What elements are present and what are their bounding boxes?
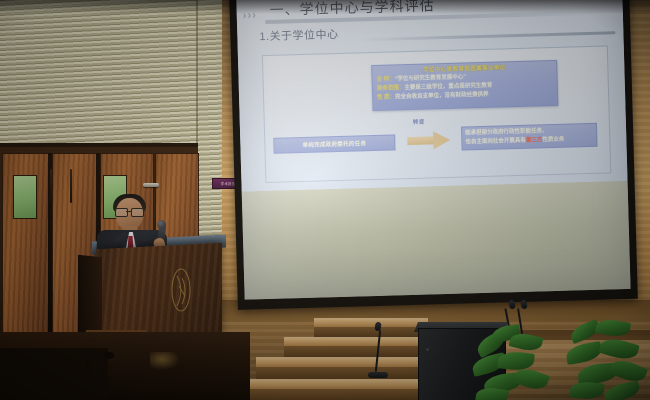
info-row-value: 完全自收自支单位，没有财政经费供养	[395, 92, 489, 101]
info-row-value: “学位与研究生教育发展中心”	[395, 74, 467, 82]
info-row-value: 主要是三级学位，重点是研究生教育	[404, 83, 492, 91]
door-handle[interactable]	[143, 183, 159, 187]
lectern-emblem-icon	[168, 266, 194, 314]
projection-screen-frame: › › › 一、学位中心与学科评估 1.关于学位中心 学位中心是教育部直属事业单…	[229, 0, 638, 310]
presentation-slide: › › › 一、学位中心与学科评估 1.关于学位中心 学位中心是教育部直属事业单…	[236, 0, 627, 192]
step-riser	[228, 389, 428, 400]
flow-arrow-label: 转变	[413, 118, 425, 126]
stage-steps	[228, 318, 428, 400]
lectern-scuff	[150, 352, 180, 370]
glasses-icon	[115, 208, 144, 215]
step-riser	[256, 367, 428, 379]
flow-after-line2-post: 性质业务	[542, 137, 564, 144]
step-riser	[284, 346, 428, 357]
microphone-head-icon	[157, 220, 166, 229]
door-window-glass	[13, 175, 37, 219]
auditorium-room: 学术报告厅 › › › 一、学位中心与学科评估 1.关于学位	[0, 0, 650, 400]
info-row-label: 性 质：	[377, 93, 395, 102]
slide-info-box: 学位中心是教育部直属事业单位 全 称：“学位与研究生教育发展中心” 服务范围：主…	[371, 60, 558, 111]
screenshot-root: 学术报告厅 › › › 一、学位中心与学科评估 1.关于学位	[0, 0, 650, 400]
chevron-right-icon: › › ›	[243, 9, 255, 21]
slide-content-card: 学位中心是教育部直属事业单位 全 称：“学位与研究生教育发展中心” 服务范围：主…	[262, 45, 611, 183]
flow-box-before: 单纯完成政府委托的任务	[273, 134, 395, 153]
door-push-bar	[70, 169, 72, 203]
flow-box-before-label: 单纯完成政府委托的任务	[302, 139, 366, 149]
flow-box-after: 既承担部分政府行政性职能任务， 也自主面向社会开展具有第三方性质业务	[461, 123, 598, 151]
right-arrow-icon	[407, 131, 451, 150]
cabinet-screw	[426, 348, 429, 351]
flow-after-highlight: 第三方	[526, 137, 543, 143]
cable-knot	[104, 352, 114, 359]
step-riser	[314, 327, 428, 337]
potted-plant	[566, 320, 650, 400]
screen-lower-skirt	[242, 181, 631, 300]
slide-subheading: 1.关于学位中心	[259, 26, 339, 44]
flow-after-line2-pre: 也自主面向社会开展具有	[465, 138, 526, 146]
potted-plant	[470, 326, 560, 400]
projection-screen-surface: › › › 一、学位中心与学科评估 1.关于学位中心 学位中心是教育部直属事业单…	[236, 0, 630, 300]
slide-subtitle-rule	[357, 31, 615, 41]
